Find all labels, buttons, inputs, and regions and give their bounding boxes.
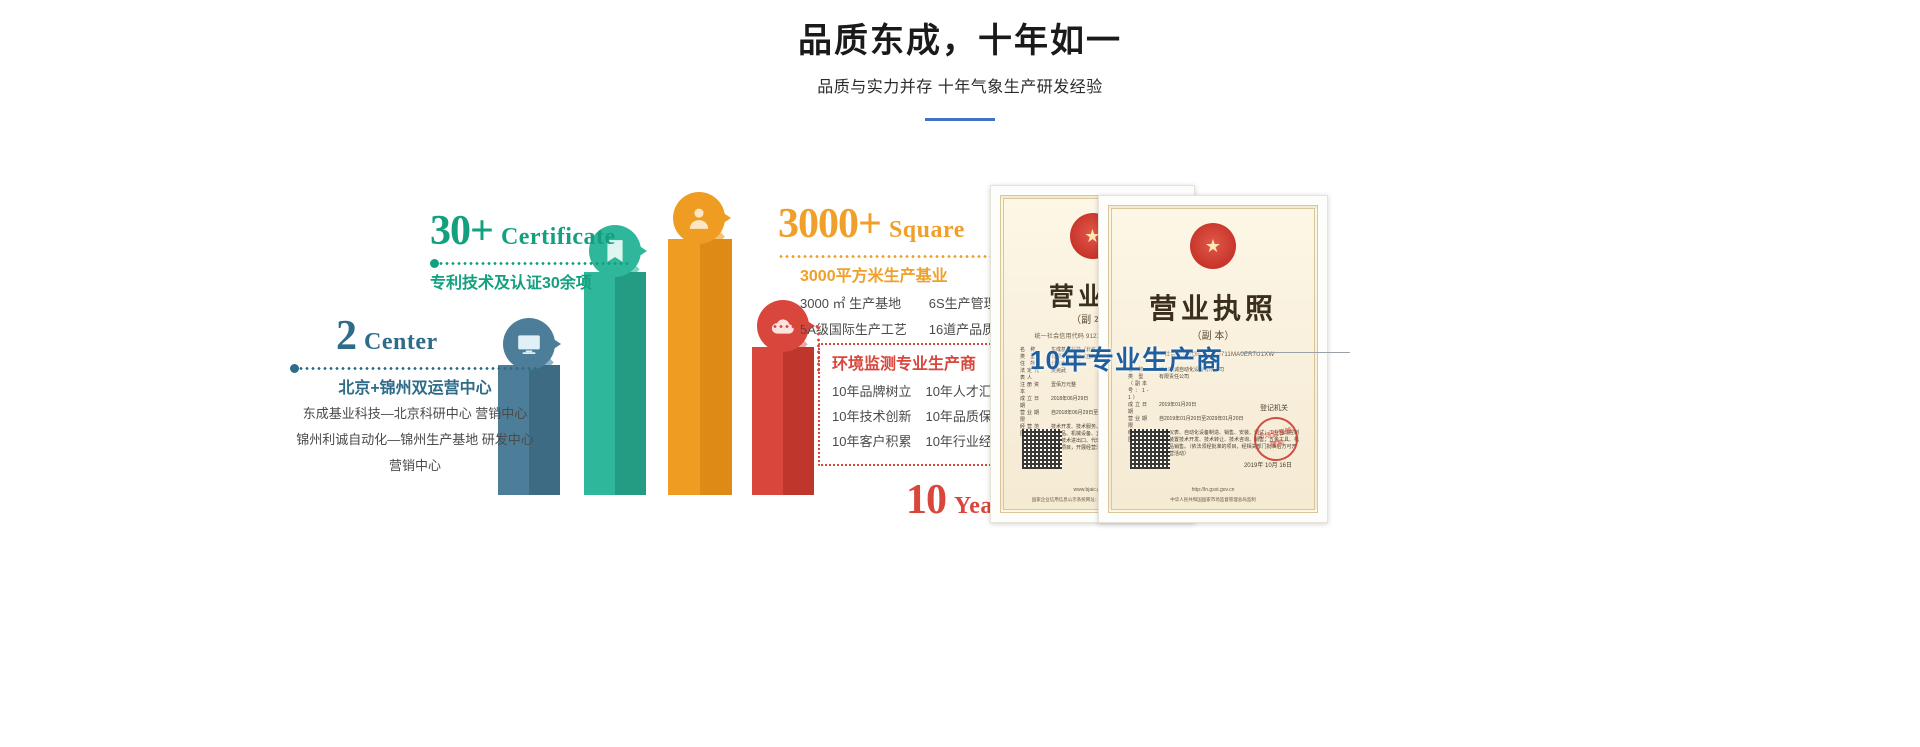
license-date: 2019年 10月 16日 <box>1244 460 1292 469</box>
decorative-hairline <box>1240 352 1350 353</box>
field-key: 成立日期 <box>1020 396 1046 410</box>
bar-square <box>668 217 732 495</box>
stat-certificate: 30+Certificate 专利技术及认证30余项 <box>430 210 630 296</box>
stat-center-word: Center <box>364 329 438 355</box>
promo-page: 品质东成，十年如一 品质与实力并存 十年气象生产研发经验 <box>0 0 1920 747</box>
user-icon-badge <box>673 192 725 244</box>
field-value <box>1159 381 1300 402</box>
license-title: 营业执照 <box>1112 287 1314 327</box>
field-key: 营业期限 <box>1020 410 1046 424</box>
license-registrar-label: 登记机关 <box>1260 403 1288 413</box>
stat-certificate-head: 30+Certificate <box>430 210 630 252</box>
stat-center-detail-1: 东成基业科技—北京科研中心 营销中心 <box>290 401 540 427</box>
stat-certificate-number: 30+ <box>430 208 493 254</box>
stat-center-detail-3: 营销中心 <box>290 453 540 479</box>
stat-year-detail-5: 10年客户积累 <box>832 429 911 454</box>
stat-year-subtitle: 环境监测专业生产商 <box>832 353 1005 377</box>
field-key: （副本号：1-1） <box>1128 381 1154 402</box>
bar-square-left-face <box>668 239 700 495</box>
stat-year-detail-1: 10年品牌树立 <box>832 379 911 404</box>
bar-certificate-right-face <box>615 272 646 495</box>
stat-certificate-subtitle: 专利技术及认证30余项 <box>430 272 630 296</box>
license-url: http://ln.gsxt.gov.cn <box>1112 487 1314 493</box>
license-footnote: 中华人民共和国国家市场监督管理总局监制 <box>1124 496 1302 503</box>
stat-certificate-word: Certificate <box>501 224 616 250</box>
stat-square-number: 3000+ <box>778 201 881 247</box>
stat-center-subtitle: 北京+锦州双运营中心 <box>290 377 540 401</box>
stat-year: 环境监测专业生产商 10年品牌树立 10年人才汇聚 10年技术创新 10年品质保… <box>818 343 1018 524</box>
field-key: 注册资本 <box>1020 382 1046 396</box>
qr-code <box>1022 429 1062 469</box>
bar-square-right-face <box>700 239 732 495</box>
title-divider <box>925 118 995 121</box>
stat-year-box: 环境监测专业生产商 10年品牌树立 10年人才汇聚 10年技术创新 10年品质保… <box>818 343 1019 466</box>
certificates-overlay-label: 10年专业生产商 <box>1030 340 1223 377</box>
qr-code <box>1130 429 1170 469</box>
national-emblem-icon: ★ <box>1190 223 1236 269</box>
stat-year-number: 10 <box>906 477 946 523</box>
user-icon <box>686 205 712 231</box>
field-key: 营业期限 <box>1128 416 1154 430</box>
field-key: 成立日期 <box>1128 402 1154 416</box>
connector-line <box>438 262 630 265</box>
stat-certificate-connector <box>430 258 630 268</box>
stat-year-detail-3: 10年技术创新 <box>832 404 911 429</box>
stat-year-details: 10年品牌树立 10年人才汇聚 10年技术创新 10年品质保证 10年客户积累 … <box>832 379 1005 454</box>
page-title: 品质东成，十年如一 <box>0 18 1920 64</box>
stat-year-head: 10Year <box>818 476 1018 524</box>
stat-center-detail-2: 锦州利诚自动化—锦州生产基地 研发中心 <box>290 427 540 453</box>
stat-square-word: Square <box>889 217 965 243</box>
stat-center-head: 2Center <box>290 315 540 357</box>
infographic-stage: 2Center 北京+锦州双运营中心 东成基业科技—北京科研中心 营销中心 锦州… <box>0 175 1920 575</box>
stat-center-number: 2 <box>336 313 356 359</box>
page-subtitle: 品质与实力并存 十年气象生产研发经验 <box>0 76 1920 100</box>
stat-year-connector <box>772 325 820 373</box>
stat-center: 2Center 北京+锦州双运营中心 东成基业科技—北京科研中心 营销中心 锦州… <box>290 315 540 479</box>
stat-center-connector <box>290 363 540 373</box>
stat-square-detail-1: 3000 ㎡ 生产基地 <box>800 291 911 317</box>
connector-line-horizontal <box>772 325 820 328</box>
page-header: 品质东成，十年如一 品质与实力并存 十年气象生产研发经验 <box>0 18 1920 121</box>
bar-certificate-left-face <box>584 272 615 495</box>
connector-line <box>298 367 540 370</box>
license-field-row: （副本号：1-1） <box>1128 381 1300 402</box>
